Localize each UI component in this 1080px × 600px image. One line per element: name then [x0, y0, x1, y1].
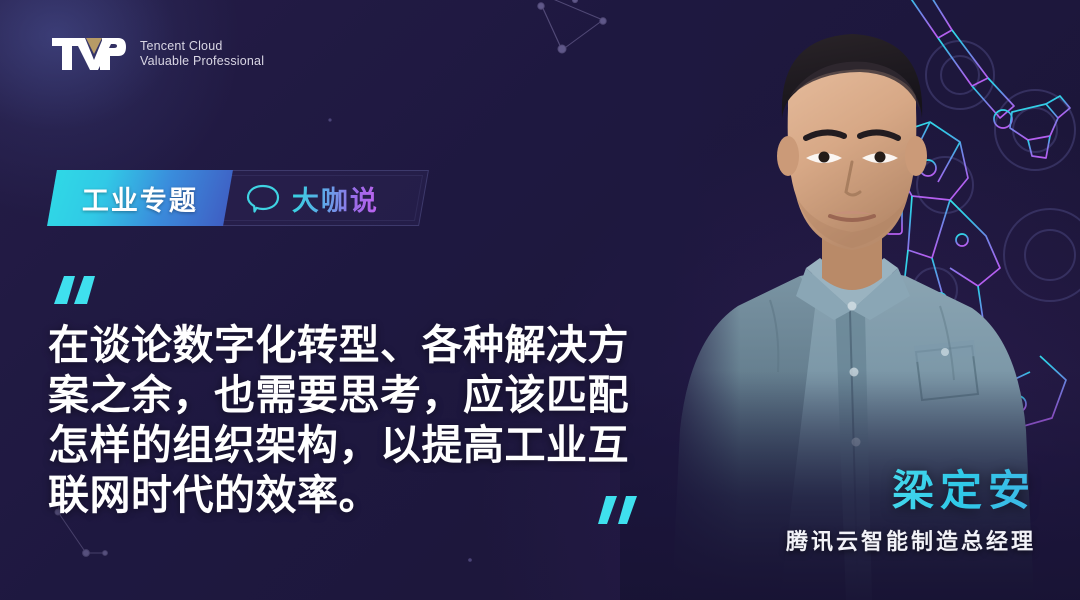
tvp-logo-mark [52, 36, 126, 72]
poster-canvas: Tencent Cloud Valuable Professional 工业专题… [0, 0, 1080, 600]
badge-column[interactable]: 大咖说 [227, 170, 429, 226]
tvp-logo-text: Tencent Cloud Valuable Professional [140, 39, 264, 69]
badge-column-label: 大咖说 [292, 179, 379, 218]
quote-text: 在谈论数字化转型、各种解决方案之余，也需要思考，应该匹配怎样的组织架构，以提高工… [48, 320, 652, 520]
quote-open-mark [50, 274, 106, 314]
speaker-info: 梁定安 腾讯云智能制造总经理 [786, 468, 1036, 556]
constellation-top [538, 0, 606, 53]
tvp-logo-line1: Tencent Cloud [140, 39, 264, 54]
badge-topic-label: 工业专题 [82, 179, 198, 218]
tvp-logo-line2: Valuable Professional [140, 54, 264, 69]
speaker-name: 梁定安 [786, 468, 1036, 514]
tvp-logo: Tencent Cloud Valuable Professional [52, 36, 264, 72]
speech-bubble-icon [246, 183, 280, 213]
speaker-title: 腾讯云智能制造总经理 [786, 524, 1036, 556]
quote-close-mark [592, 486, 648, 526]
badge-topic[interactable]: 工业专题 [47, 170, 233, 226]
